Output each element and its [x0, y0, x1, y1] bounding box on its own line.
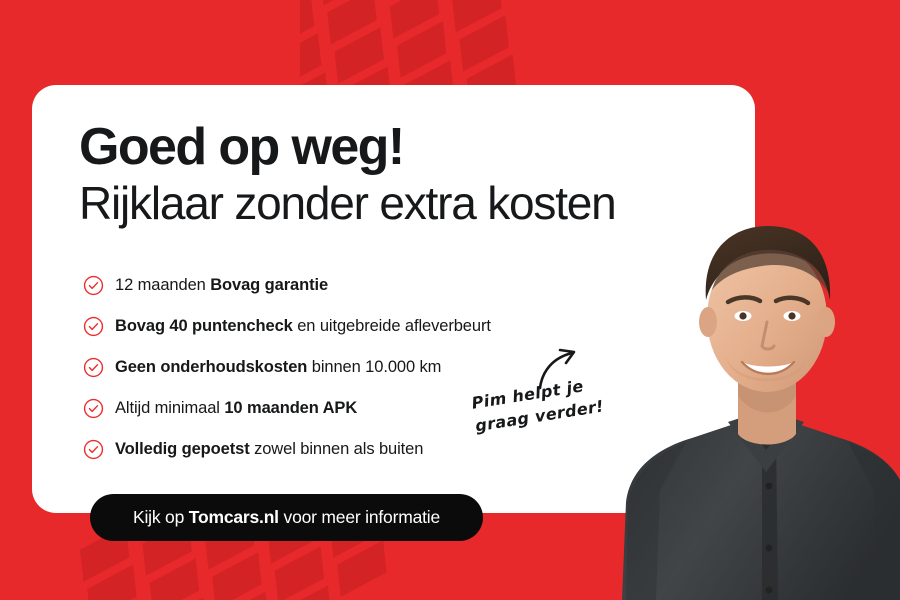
- check-circle-icon: [83, 316, 104, 337]
- list-item-label: Geen onderhoudskosten binnen 10.000 km: [115, 358, 441, 378]
- list-item: Bovag 40 puntencheck en uitgebreide afle…: [83, 306, 643, 347]
- list-item-label: Bovag 40 puntencheck en uitgebreide afle…: [115, 317, 491, 337]
- page-title: Goed op weg!: [79, 121, 404, 173]
- cta-label: Kijk op Tomcars.nl voor meer informatie: [133, 507, 440, 528]
- list-item-label: 12 maanden Bovag garantie: [115, 276, 328, 296]
- list-item: Volledig gepoetst zowel binnen als buite…: [83, 429, 643, 470]
- check-circle-icon: [83, 398, 104, 419]
- list-item-label: Volledig gepoetst zowel binnen als buite…: [115, 440, 423, 460]
- avatar: [616, 150, 900, 600]
- list-item: 12 maanden Bovag garantie: [83, 265, 643, 306]
- check-circle-icon: [83, 357, 104, 378]
- check-circle-icon: [83, 439, 104, 460]
- banner-root: Goed op weg! Rijklaar zonder extra koste…: [0, 0, 900, 600]
- cta-button[interactable]: Kijk op Tomcars.nl voor meer informatie: [90, 494, 483, 541]
- check-circle-icon: [83, 275, 104, 296]
- list-item-label: Altijd minimaal 10 maanden APK: [115, 399, 357, 419]
- page-subtitle: Rijklaar zonder extra kosten: [79, 180, 616, 226]
